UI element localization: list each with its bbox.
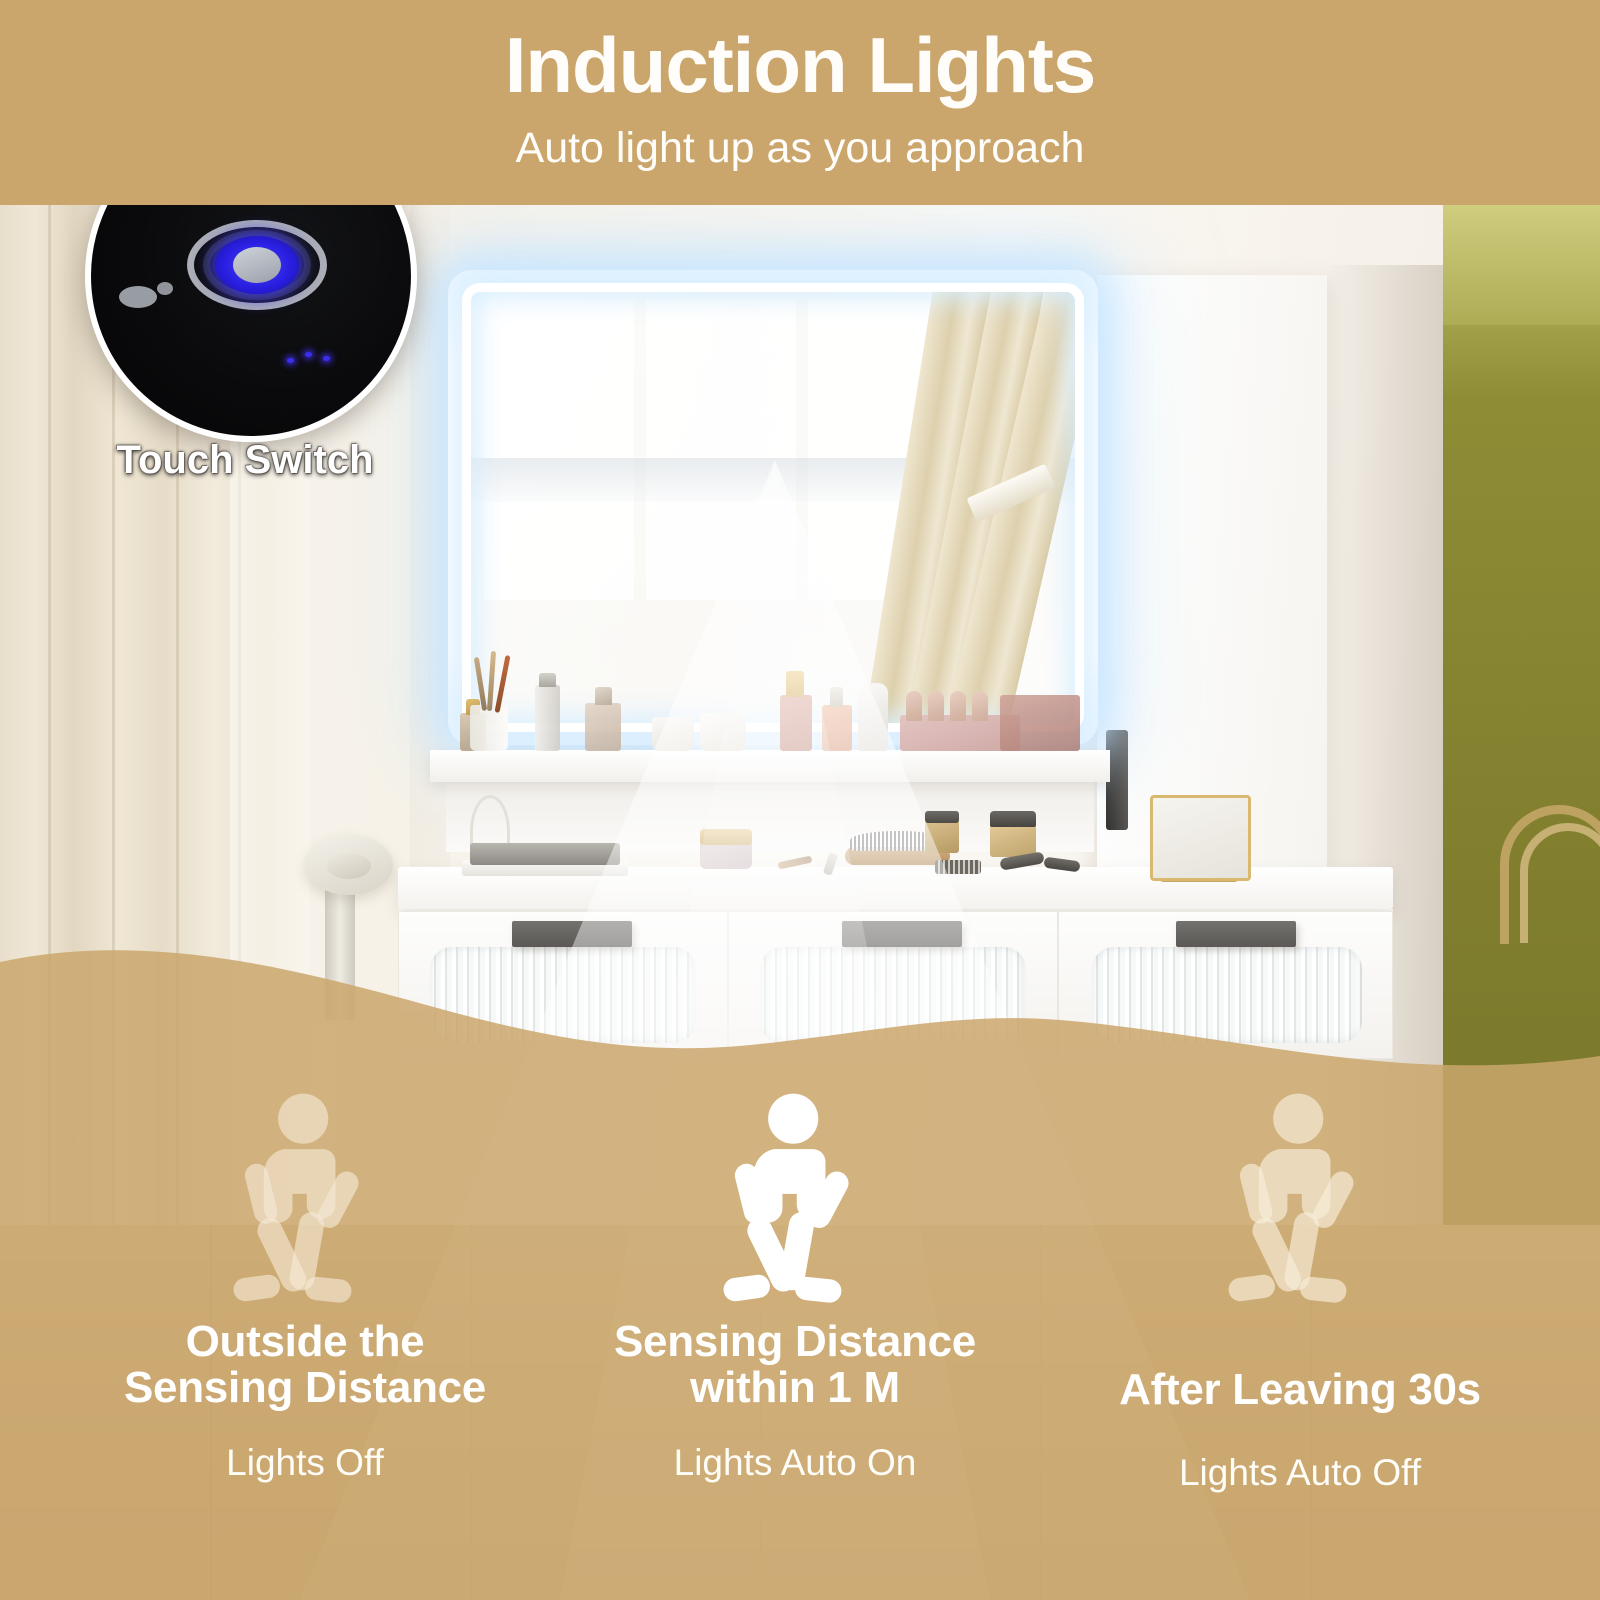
indicator-led-icon [305,352,312,357]
indicator-led-icon [323,356,330,361]
state-column-outside: Outside the Sensing Distance Lights Off [55,1090,555,1484]
touch-switch-label: Touch Switch [40,440,450,480]
walking-person-icon [705,1090,885,1305]
sensor-reflection-blob [119,286,157,308]
state-column-within: Sensing Distance within 1 M Lights Auto … [535,1090,1055,1484]
walking-person-icon [215,1090,395,1305]
state-subtitle: Lights Auto On [535,1443,1055,1484]
sensor-core-icon [233,247,281,283]
state-column-after-leaving: After Leaving 30s Lights Auto Off [1020,1090,1580,1494]
state-subtitle: Lights Auto Off [1020,1453,1580,1494]
indicator-led-icon [287,358,294,363]
page-title: Induction Lights [0,26,1600,104]
state-title: Sensing Distance within 1 M [535,1319,1055,1411]
page-subtitle: Auto light up as you approach [0,127,1600,170]
state-subtitle: Lights Off [55,1443,555,1484]
walking-person-icon [1210,1090,1390,1305]
product-feature-graphic: Induction Lights Auto light up as you ap… [0,0,1600,1600]
sensor-reflection-blob [157,282,173,295]
state-title: Outside the Sensing Distance [55,1319,555,1411]
state-title: After Leaving 30s [1020,1367,1580,1413]
header-band: Induction Lights Auto light up as you ap… [0,0,1600,205]
